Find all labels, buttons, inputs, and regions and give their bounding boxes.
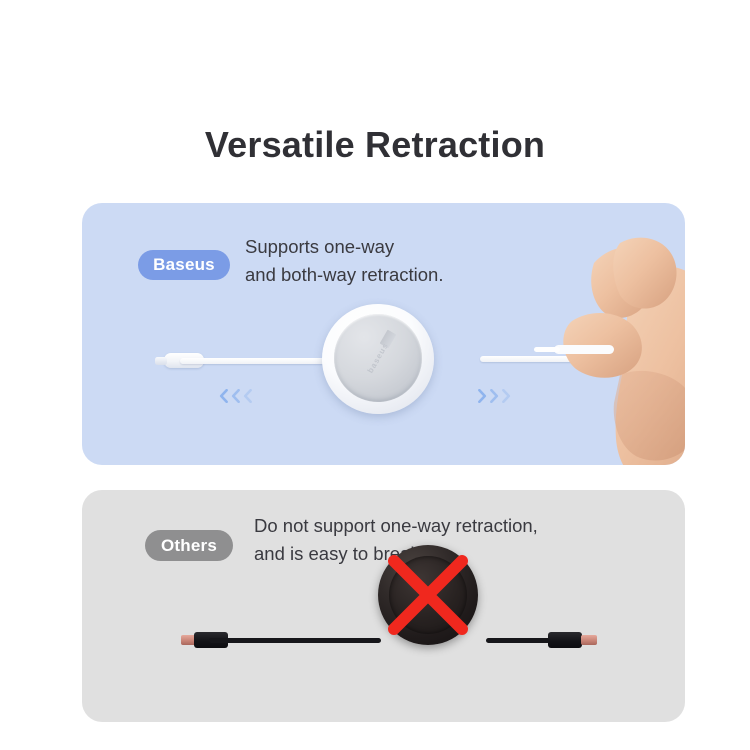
connector-tip-right-icon	[581, 635, 597, 645]
cable-tip-in-hand	[554, 345, 614, 354]
cable-segment-left	[180, 358, 345, 364]
baseus-comparison-panel: Baseus Supports one-way and both-way ret…	[82, 203, 685, 465]
baseus-product-scene: baseus	[82, 203, 685, 465]
product-feature-page: Versatile Retraction Baseus Supports one…	[0, 0, 750, 750]
usb-connector-black-right-icon	[548, 632, 582, 648]
chevron-left-icon	[219, 389, 228, 403]
hand-pulling-cable	[534, 225, 685, 465]
others-comparison-panel: Others Do not support one-way retraction…	[82, 490, 685, 722]
chevron-right-icon	[478, 389, 487, 403]
page-title: Versatile Retraction	[0, 124, 750, 165]
chevron-right-icon	[502, 389, 511, 403]
retract-right-arrows	[478, 389, 511, 403]
others-product-scene	[82, 490, 685, 722]
black-cable-segment-left	[209, 638, 381, 643]
black-cable-reel	[378, 545, 478, 645]
chevron-left-icon	[243, 389, 252, 403]
middle-finger	[613, 238, 676, 309]
reel-face: baseus	[334, 314, 422, 402]
retractable-cable-reel: baseus	[322, 304, 434, 414]
chevron-left-icon	[231, 389, 240, 403]
black-cable-segment-right	[486, 638, 554, 643]
cable-entering-hand	[534, 347, 560, 352]
cross-mark-icon	[372, 539, 484, 651]
chevron-right-icon	[490, 389, 499, 403]
retract-left-arrows	[219, 389, 252, 403]
